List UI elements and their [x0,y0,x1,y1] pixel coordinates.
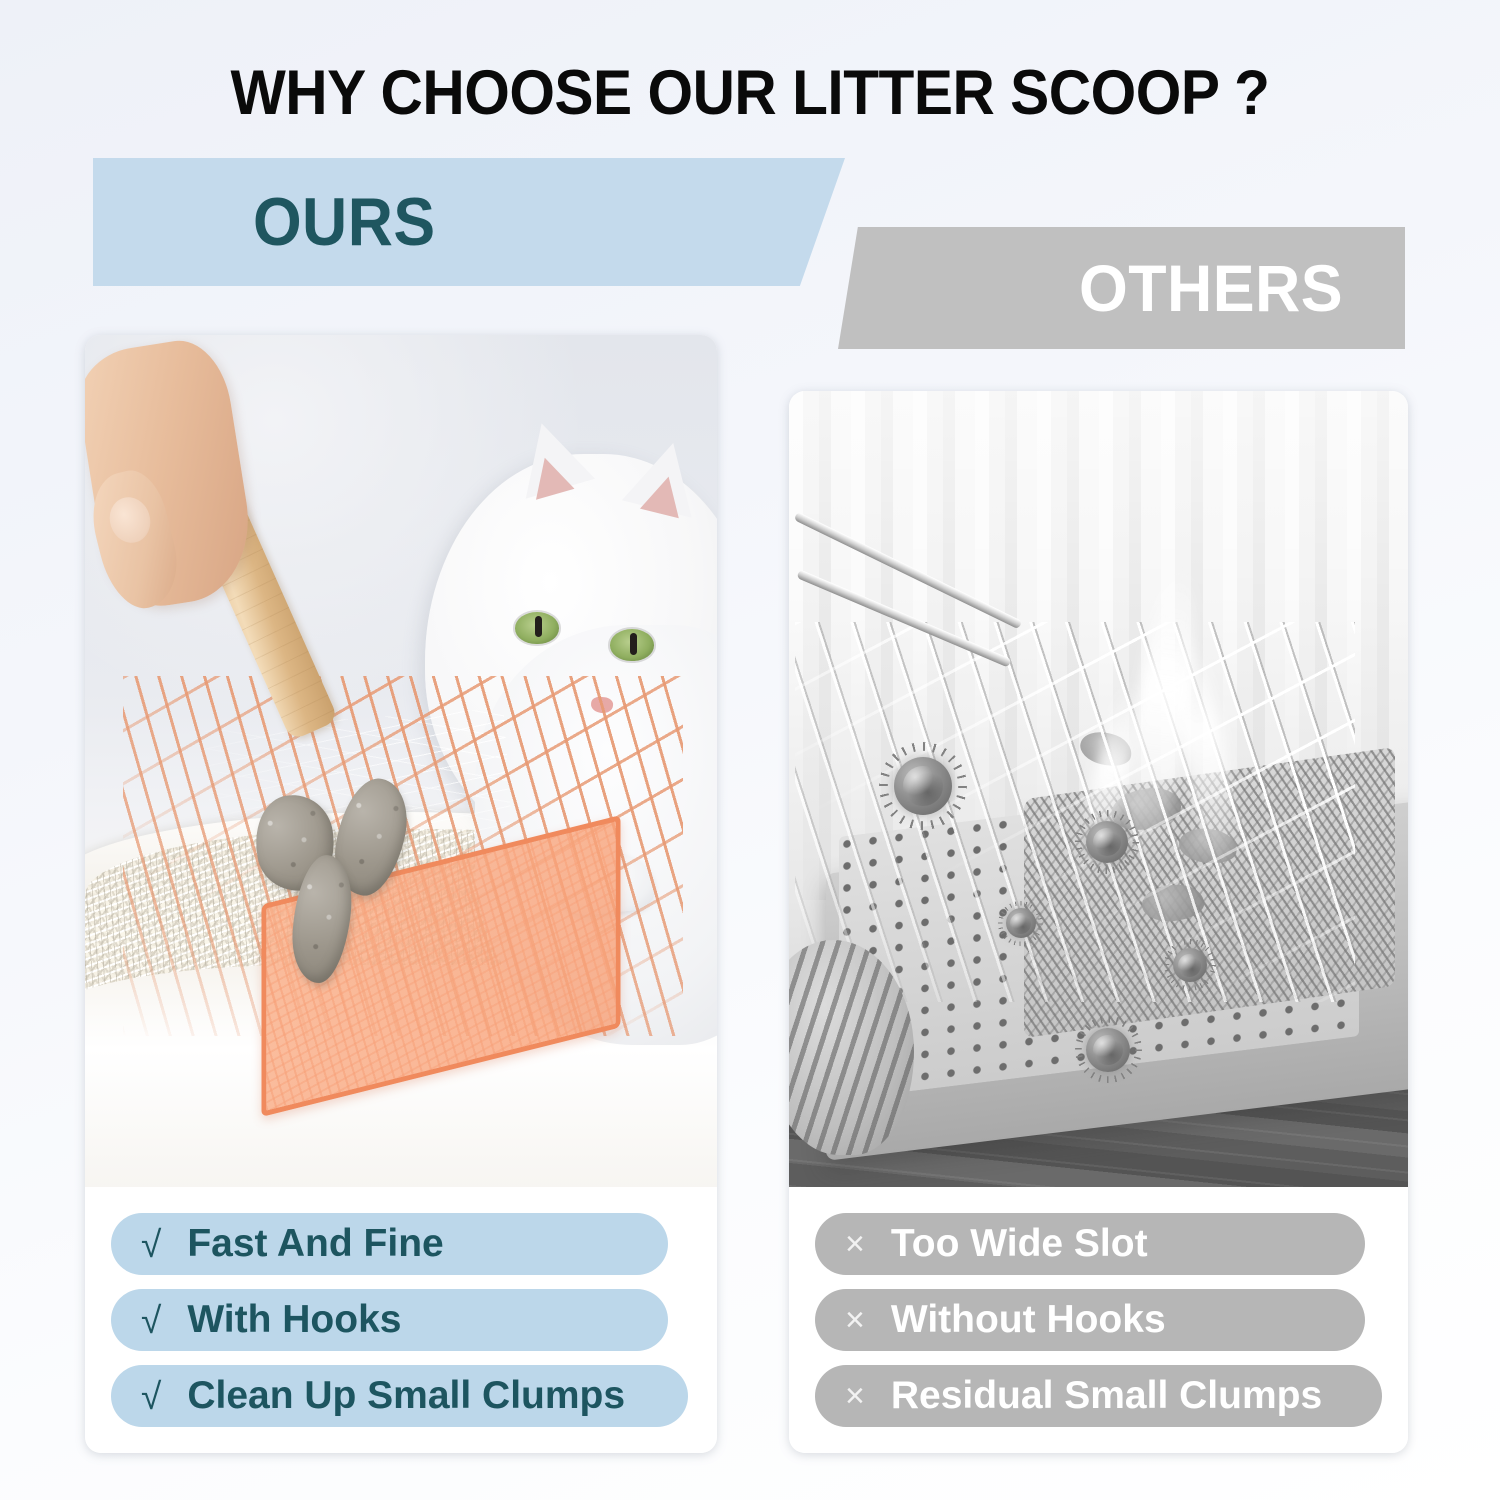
feature-label: Too Wide Slot [891,1222,1148,1266]
check-icon: √ [141,1378,161,1415]
check-icon: √ [141,1302,161,1339]
feature-pill-ours: √ Clean Up Small Clumps [111,1365,688,1427]
cross-icon: × [845,1227,865,1261]
banner-others-label: OTHERS [1079,250,1343,326]
germ-icon [1086,1028,1130,1072]
product-photo-others [789,391,1408,1187]
germ-icon [1173,948,1207,982]
feature-label: Residual Small Clumps [891,1374,1322,1418]
feature-label: Without Hooks [891,1298,1166,1342]
cross-icon: × [845,1303,865,1337]
check-icon: √ [141,1226,161,1263]
steel-wide-slot-scoop [795,622,1355,1002]
banner-ours-label: OURS [253,183,436,261]
scoop-tines-secondary [795,622,1355,1002]
germ-icon [894,757,952,815]
banner-others: OTHERS [838,227,1405,349]
comparison-card-others: × Too Wide Slot × Without Hooks × Residu… [789,391,1408,1453]
germ-icon [1006,908,1036,938]
feature-pill-others: × Without Hooks [815,1289,1365,1351]
feature-pill-ours: √ Fast And Fine [111,1213,668,1275]
cat-eye-right [610,629,654,661]
cat-eye-left [515,612,559,644]
feature-label: Clean Up Small Clumps [187,1374,625,1418]
feature-list-others: × Too Wide Slot × Without Hooks × Residu… [789,1187,1408,1453]
banner-ours: OURS [93,158,845,286]
comparison-card-ours: √ Fast And Fine √ With Hooks √ Clean Up … [85,335,717,1453]
page-title: WHY CHOOSE OUR LITTER SCOOP ? [53,57,1448,129]
feature-label: Fast And Fine [187,1222,443,1266]
germ-icon [1086,821,1128,863]
feature-pill-others: × Residual Small Clumps [815,1365,1382,1427]
cross-icon: × [845,1379,865,1413]
feature-pill-ours: √ With Hooks [111,1289,668,1351]
feature-pill-others: × Too Wide Slot [815,1213,1365,1275]
feature-list-ours: √ Fast And Fine √ With Hooks √ Clean Up … [85,1187,717,1453]
product-photo-ours [85,335,717,1187]
feature-label: With Hooks [187,1298,401,1342]
